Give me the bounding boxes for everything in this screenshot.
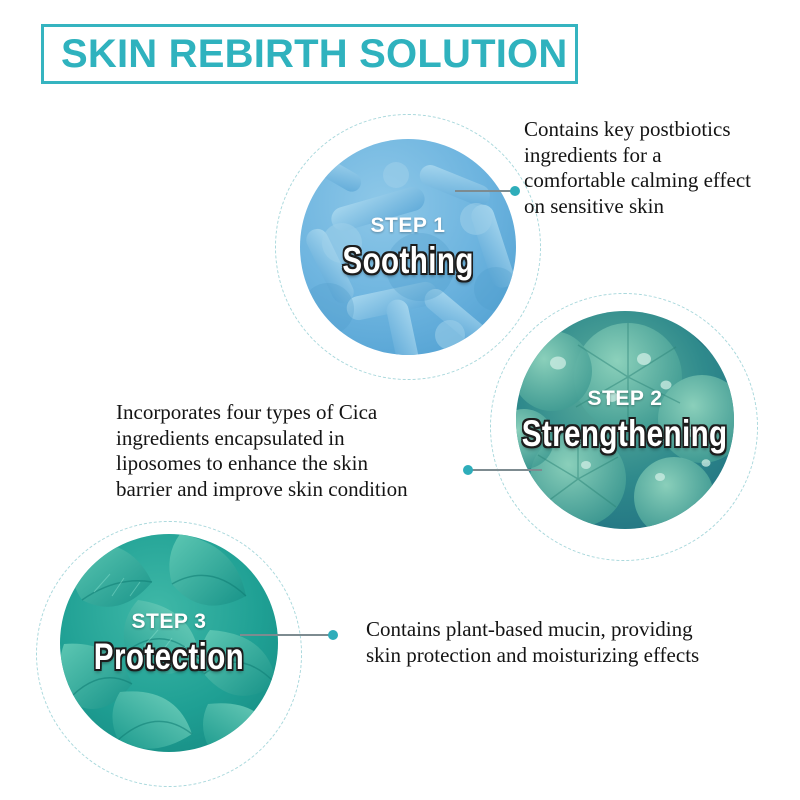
- step-3-circle[interactable]: STEP 3 Protection: [60, 534, 278, 752]
- step-1-connector-line: [455, 190, 515, 192]
- step-1-name: Soothing: [342, 242, 473, 279]
- step-3-description: Contains plant-based mucin, providing sk…: [366, 617, 776, 668]
- step-3-number: STEP 3: [132, 611, 207, 632]
- step-1-description: Contains key postbiotics ingredients for…: [524, 117, 800, 219]
- step-2-connector-line: [472, 469, 542, 471]
- step-2-circle[interactable]: STEP 2 Strengthening: [516, 311, 734, 529]
- step-3-connector-dot: [328, 630, 338, 640]
- step-1-connector-dot: [510, 186, 520, 196]
- step-2-labels: STEP 2 Strengthening: [516, 311, 734, 529]
- step-1-circle[interactable]: STEP 1 Soothing: [300, 139, 516, 355]
- step-2-description: Incorporates four types of Cica ingredie…: [116, 400, 476, 502]
- page-title: SKIN REBIRTH SOLUTION: [61, 34, 567, 74]
- step-3-name: Protection: [94, 638, 244, 675]
- step-2-number: STEP 2: [588, 388, 663, 409]
- step-3-connector-line: [240, 634, 335, 636]
- page-title-box: SKIN REBIRTH SOLUTION: [41, 24, 578, 84]
- step-3-labels: STEP 3 Protection: [60, 534, 278, 752]
- infographic-canvas: SKIN REBIRTH SOLUTION: [0, 0, 800, 800]
- step-2-name: Strengthening: [522, 415, 728, 452]
- step-1-labels: STEP 1 Soothing: [300, 139, 516, 355]
- step-1-number: STEP 1: [371, 215, 446, 236]
